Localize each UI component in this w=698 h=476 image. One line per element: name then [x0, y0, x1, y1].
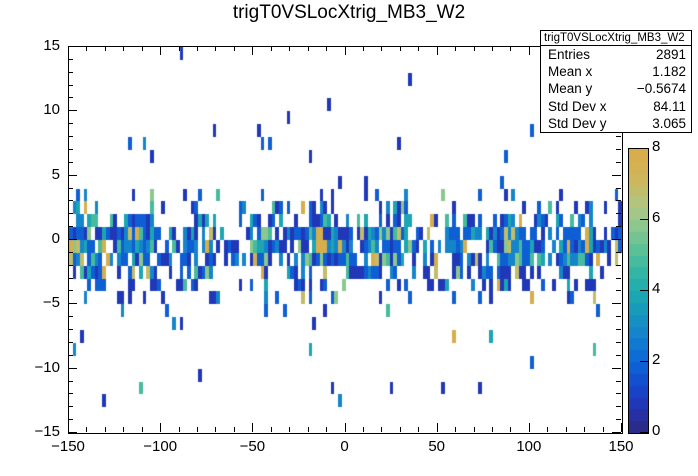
x-top-tick: [510, 46, 511, 51]
stats-row: Std Dev x84.11: [541, 98, 691, 115]
y-axis-label: −10: [2, 359, 60, 376]
x-top-tick: [86, 46, 87, 51]
y-minor-tick: [68, 278, 73, 279]
x-minor-tick: [197, 427, 198, 432]
stats-row: Mean x1.182: [541, 63, 691, 80]
x-minor-tick: [584, 427, 585, 432]
stats-row-key: Mean y: [548, 80, 592, 97]
y-major-tick: [68, 175, 77, 176]
x-major-tick: [252, 423, 253, 432]
y-right-tick: [616, 393, 621, 394]
color-scale-tick: [640, 361, 648, 362]
y-axis-label: 10: [2, 101, 60, 118]
x-top-tick: [492, 46, 493, 51]
y-minor-tick: [68, 406, 73, 407]
x-minor-tick: [418, 427, 419, 432]
x-axis-label: 50: [397, 438, 477, 455]
x-minor-tick: [289, 427, 290, 432]
x-top-tick: [105, 46, 106, 51]
x-top-tick: [179, 46, 180, 51]
x-minor-tick: [381, 427, 382, 432]
y-minor-tick: [68, 188, 73, 189]
color-scale-label: 6: [652, 209, 660, 226]
y-minor-tick: [68, 200, 73, 201]
x-top-tick: [326, 46, 327, 51]
x-top-tick: [381, 46, 382, 51]
y-minor-tick: [68, 149, 73, 150]
y-right-tick: [616, 316, 621, 317]
x-minor-tick: [142, 427, 143, 432]
x-top-tick: [308, 46, 309, 51]
x-minor-tick: [547, 427, 548, 432]
color-scale-label: 2: [652, 351, 660, 368]
y-right-tick: [616, 265, 621, 266]
stats-row: Mean y−0.5674: [541, 80, 691, 97]
y-major-tick: [68, 432, 77, 433]
stats-row-key: Entries: [548, 46, 590, 63]
x-minor-tick: [308, 427, 309, 432]
color-scale-label: 0: [652, 422, 660, 439]
x-major-tick: [529, 423, 530, 432]
y-minor-tick: [68, 72, 73, 73]
y-minor-tick: [68, 381, 73, 382]
stats-row-value: 3.065: [652, 115, 686, 132]
x-major-tick: [621, 423, 622, 432]
x-axis-label: 100: [489, 438, 569, 455]
y-right-tick: [616, 329, 621, 330]
stats-row: Entries2891: [541, 46, 691, 63]
color-scale-bar[interactable]: [628, 148, 649, 434]
y-right-tick: [612, 239, 621, 240]
y-right-tick: [616, 355, 621, 356]
x-top-tick: [197, 46, 198, 51]
color-scale-label: 4: [652, 280, 660, 297]
stats-row-key: Mean x: [548, 63, 592, 80]
y-minor-tick: [68, 213, 73, 214]
x-minor-tick: [400, 427, 401, 432]
y-minor-tick: [68, 226, 73, 227]
y-major-tick: [68, 110, 77, 111]
x-axis-label: −100: [120, 438, 200, 455]
x-minor-tick: [474, 427, 475, 432]
x-top-tick: [363, 46, 364, 51]
x-top-tick: [400, 46, 401, 51]
y-major-tick: [68, 239, 77, 240]
y-right-tick: [616, 188, 621, 189]
y-right-tick: [616, 149, 621, 150]
y-axis-label: −5: [2, 294, 60, 311]
y-right-tick: [616, 278, 621, 279]
x-major-tick: [345, 423, 346, 432]
y-minor-tick: [68, 419, 73, 420]
x-top-tick: [160, 46, 161, 55]
y-right-tick: [612, 175, 621, 176]
stats-box[interactable]: trigT0VSLocXtrig_MB3_W2 Entries2891Mean …: [540, 30, 692, 133]
x-minor-tick: [326, 427, 327, 432]
x-top-tick: [215, 46, 216, 51]
y-minor-tick: [68, 97, 73, 98]
x-minor-tick: [363, 427, 364, 432]
x-minor-tick: [271, 427, 272, 432]
x-top-tick: [474, 46, 475, 51]
x-minor-tick: [123, 427, 124, 432]
stats-box-title: trigT0VSLocXtrig_MB3_W2: [541, 31, 691, 46]
x-minor-tick: [105, 427, 106, 432]
stats-row-key: Std Dev y: [548, 115, 607, 132]
x-top-tick: [418, 46, 419, 51]
y-minor-tick: [68, 265, 73, 266]
x-minor-tick: [179, 427, 180, 432]
color-scale-tick: [640, 219, 648, 220]
x-top-tick: [234, 46, 235, 51]
x-major-tick: [437, 423, 438, 432]
y-minor-tick: [68, 252, 73, 253]
x-top-tick: [123, 46, 124, 51]
stats-row-value: −0.5674: [637, 80, 686, 97]
y-major-tick: [68, 303, 77, 304]
x-major-tick: [68, 423, 69, 432]
y-axis-label: 15: [2, 37, 60, 54]
y-right-tick: [616, 162, 621, 163]
y-right-tick: [616, 136, 621, 137]
x-top-tick: [437, 46, 438, 55]
y-minor-tick: [68, 290, 73, 291]
x-top-tick: [142, 46, 143, 51]
x-top-tick: [345, 46, 346, 55]
stats-row-value: 2891: [656, 46, 686, 63]
x-minor-tick: [234, 427, 235, 432]
x-axis-label: −150: [28, 438, 108, 455]
page-title: trigT0VSLocXtrig_MB3_W2: [0, 2, 698, 24]
x-top-tick: [252, 46, 253, 55]
x-axis-label: 0: [305, 438, 385, 455]
y-major-tick: [68, 368, 77, 369]
y-minor-tick: [68, 329, 73, 330]
x-top-tick: [68, 46, 69, 55]
stats-row-key: Std Dev x: [548, 98, 607, 115]
y-right-tick: [616, 290, 621, 291]
y-minor-tick: [68, 393, 73, 394]
x-minor-tick: [86, 427, 87, 432]
x-minor-tick: [566, 427, 567, 432]
y-axis-label: −15: [2, 423, 60, 440]
y-minor-tick: [68, 123, 73, 124]
stats-row: Std Dev y3.065: [541, 115, 691, 132]
y-right-tick: [612, 368, 621, 369]
y-minor-tick: [68, 342, 73, 343]
color-scale-tick: [640, 432, 648, 433]
y-major-tick: [68, 46, 77, 47]
stats-row-value: 1.182: [652, 63, 686, 80]
x-major-tick: [160, 423, 161, 432]
x-axis-label: −50: [212, 438, 292, 455]
y-right-tick: [612, 432, 621, 433]
y-minor-tick: [68, 85, 73, 86]
y-minor-tick: [68, 59, 73, 60]
y-minor-tick: [68, 136, 73, 137]
x-minor-tick: [215, 427, 216, 432]
y-right-tick: [616, 419, 621, 420]
y-minor-tick: [68, 162, 73, 163]
color-scale-label: 8: [652, 138, 660, 155]
x-top-tick: [529, 46, 530, 55]
color-scale-tick: [640, 148, 648, 149]
y-right-tick: [616, 200, 621, 201]
x-top-tick: [455, 46, 456, 51]
color-scale-tick: [640, 290, 648, 291]
y-right-tick: [616, 406, 621, 407]
x-top-tick: [289, 46, 290, 51]
y-minor-tick: [68, 355, 73, 356]
x-axis-label: 150: [581, 438, 661, 455]
y-right-tick: [616, 213, 621, 214]
x-minor-tick: [510, 427, 511, 432]
y-right-tick: [616, 342, 621, 343]
root-canvas: trigT0VSLocXtrig_MB3_W2 −150−100−5005010…: [0, 0, 698, 476]
stats-row-value: 84.11: [653, 98, 686, 115]
x-minor-tick: [492, 427, 493, 432]
y-right-tick: [616, 381, 621, 382]
stats-box-rows: Entries2891Mean x1.182Mean y−0.5674Std D…: [541, 46, 691, 132]
x-minor-tick: [455, 427, 456, 432]
y-right-tick: [612, 303, 621, 304]
y-axis-label: 5: [2, 166, 60, 183]
y-axis-label: 0: [2, 230, 60, 247]
x-top-tick: [271, 46, 272, 51]
color-scale-gradient: [629, 149, 648, 433]
x-minor-tick: [603, 427, 604, 432]
y-minor-tick: [68, 316, 73, 317]
y-right-tick: [616, 252, 621, 253]
y-right-tick: [616, 226, 621, 227]
